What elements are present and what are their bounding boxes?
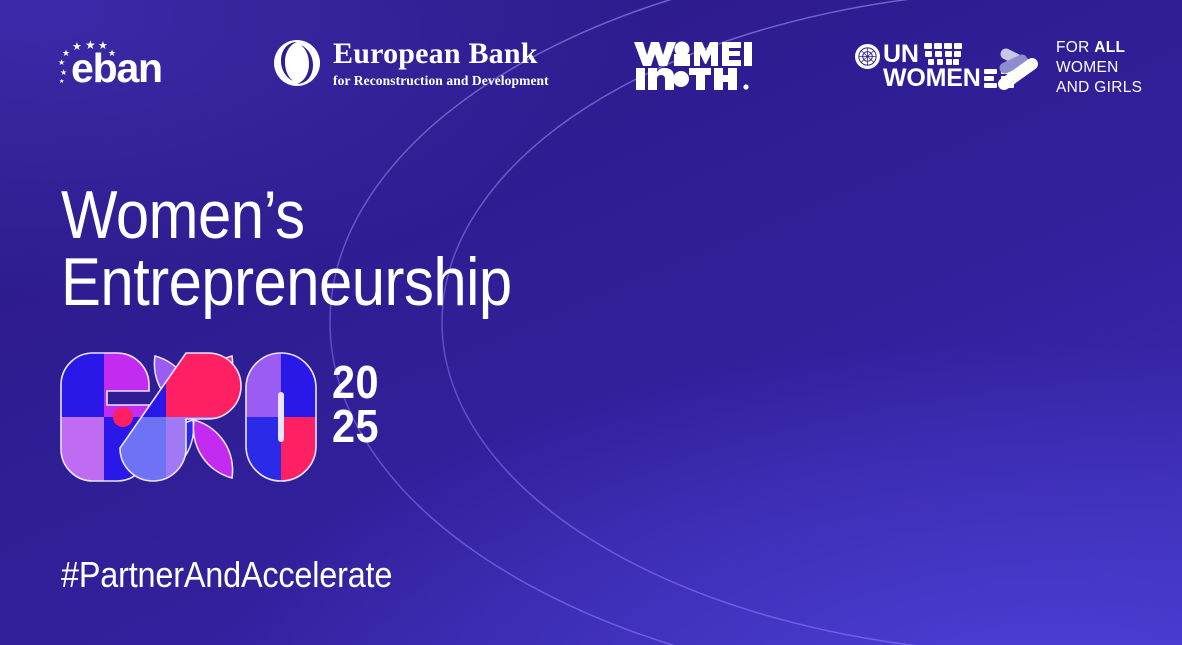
expo-letter-o-slit [278, 392, 284, 442]
fawg-line1: FOR ALL [1056, 38, 1142, 58]
partner-logo-bar: ★ ★ ★ ★ ★ ★ ★ ★ eban European Ba [0, 0, 1182, 126]
campaign-hashtag: #PartnerAndAccelerate [61, 554, 392, 596]
expo-letter-e-dot [113, 407, 133, 427]
fawg-line3: AND GIRLS [1056, 78, 1142, 98]
poster-canvas: ★ ★ ★ ★ ★ ★ ★ ★ eban European Ba [0, 0, 1182, 645]
expo-wordmark-icon [60, 352, 318, 482]
expo-year: 20 25 [332, 360, 379, 448]
eban-stars-icon: ★ ★ ★ ★ ★ ★ ★ ★ [56, 39, 116, 85]
logo-eban: ★ ★ ★ ★ ★ ★ ★ ★ eban [56, 34, 162, 89]
expo-logo: 20 25 [60, 352, 384, 482]
ebrd-emblem-icon [272, 38, 322, 88]
ebrd-line2: for Reconstruction and Development [333, 74, 549, 88]
un-women-line1: UN [883, 43, 919, 67]
expo-year-top: 20 [332, 360, 379, 404]
ebrd-line1: European Bank [333, 39, 549, 69]
logo-ebrd: European Bank for Reconstruction and Dev… [272, 38, 549, 88]
headline-line-1: Women’s [61, 182, 512, 249]
for-all-women-and-girls-wordmark: FOR ALL WOMEN AND GIRLS [1056, 38, 1142, 97]
headline-line-2: Entrepreneurship [61, 249, 512, 316]
fawg-line2: WOMEN [1056, 58, 1142, 78]
un-women-line2: WOMEN [883, 67, 981, 91]
logo-women-in-tech [634, 40, 752, 92]
ebrd-wordmark: European Bank for Reconstruction and Dev… [333, 39, 549, 88]
logo-for-all-women-and-girls: FOR ALL WOMEN AND GIRLS [996, 38, 1142, 97]
page-title: Women’s Entrepreneurship [61, 182, 512, 317]
un-emblem-icon [855, 44, 880, 69]
logo-un-women: UN [855, 42, 1016, 91]
for-all-women-and-girls-arrow-icon [996, 42, 1044, 94]
women-in-tech-wordmark-icon [634, 40, 752, 92]
expo-year-bottom: 25 [332, 404, 379, 448]
